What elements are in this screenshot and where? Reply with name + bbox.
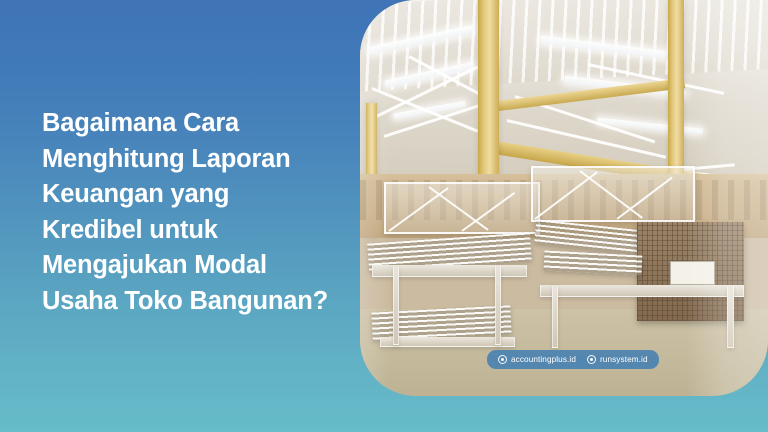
page-title: Bagaimana Cara Menghitung Laporan Keuang…: [42, 106, 342, 319]
headline-line-1: Bagaimana Cara: [42, 106, 342, 142]
promo-banner: Bagaimana Cara Menghitung Laporan Keuang…: [0, 0, 768, 432]
badge-accountingplus[interactable]: accountingplus.id: [498, 355, 576, 364]
headline-line-3: Keuangan yang: [42, 177, 342, 213]
brand-badge-bar: accountingplus.id runsystem.id: [487, 350, 659, 369]
rack-leg: [552, 285, 559, 348]
badge-runsystem-label: runsystem.id: [600, 355, 648, 364]
stack-label-tag: [670, 261, 715, 285]
headline-line-6: Usaha Toko Bangunan?: [42, 284, 342, 320]
headline-line-2: Menghitung Laporan: [42, 142, 342, 178]
warehouse-photo: [360, 0, 768, 396]
rack-leg: [727, 285, 734, 348]
headline-line-4: Kredibel untuk: [42, 213, 342, 249]
rack-leg: [393, 265, 400, 344]
badge-runsystem[interactable]: runsystem.id: [587, 355, 648, 364]
headline-line-5: Mengajukan Modal: [42, 248, 342, 284]
rack-leg: [495, 265, 502, 344]
circle-logo-icon: [587, 355, 596, 364]
badge-accountingplus-label: accountingplus.id: [511, 355, 576, 364]
steel-truss-stack: [384, 182, 539, 233]
circle-logo-icon: [498, 355, 507, 364]
stacked-steel-profiles: [543, 251, 642, 276]
warehouse-photo-image: [360, 0, 768, 396]
storage-rack: [540, 285, 744, 297]
